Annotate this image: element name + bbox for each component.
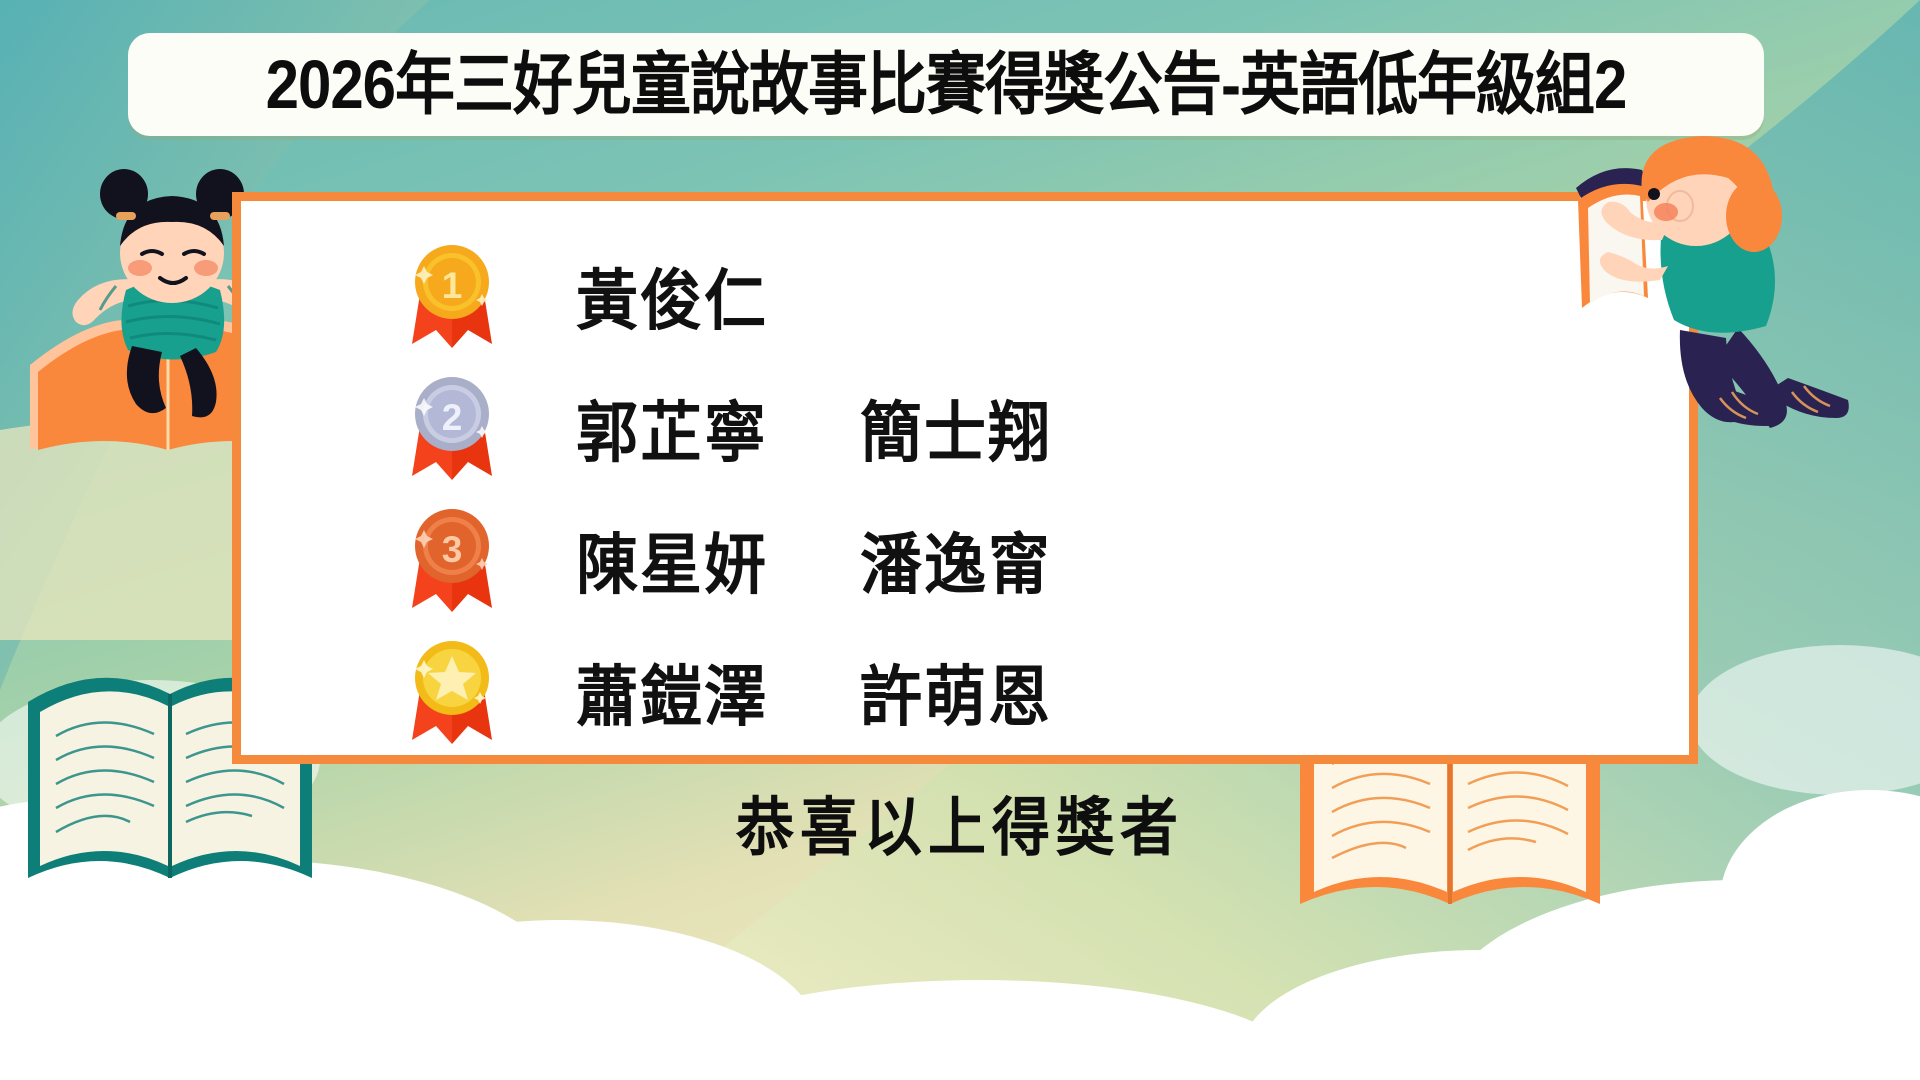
- announcement-title-card: 2026年三好兒童說故事比賽得獎公告-英語低年級組2: [128, 33, 1764, 136]
- winner-name: 潘逸甯: [860, 511, 1052, 606]
- winner-name: 陳星妍: [576, 511, 768, 606]
- winner-names: 黃俊仁: [576, 250, 768, 340]
- winner-name: 郭芷寧: [576, 379, 768, 474]
- winner-names: 郭芷寧 簡士翔: [576, 382, 1052, 472]
- page-title: 2026年三好兒童說故事比賽得獎公告-英語低年級組2: [266, 50, 1627, 118]
- winners-panel: 1 黃俊仁 2: [232, 192, 1698, 764]
- winner-row: 2 郭芷寧 簡士翔: [406, 367, 1689, 487]
- silver-medal-ribbon-icon: 2: [406, 372, 498, 482]
- winner-name: 黃俊仁: [576, 247, 768, 342]
- winners-list: 1 黃俊仁 2: [241, 201, 1689, 755]
- medal-rank-label: 3: [442, 529, 463, 570]
- winner-name: 許萌恩: [860, 643, 1052, 738]
- winner-row: 1 黃俊仁: [406, 235, 1689, 355]
- winner-name: 蕭鎧澤: [576, 643, 768, 738]
- winner-row: 蕭鎧澤 許萌恩: [406, 631, 1689, 751]
- medal-rank-label: 1: [442, 265, 463, 306]
- winner-names: 陳星妍 潘逸甯: [576, 514, 1052, 604]
- winner-name: 簡士翔: [860, 379, 1052, 474]
- congratulations-text: 恭喜以上得獎者: [0, 776, 1920, 868]
- winner-names: 蕭鎧澤 許萌恩: [576, 646, 1052, 736]
- winner-row: 3 陳星妍 潘逸甯: [406, 499, 1689, 619]
- gold-medal-ribbon-icon: 1: [406, 240, 498, 350]
- medal-rank-label: 2: [442, 397, 463, 438]
- boy-reading-book-illustration: [1570, 130, 1900, 450]
- star-medal-ribbon-icon: [406, 636, 498, 746]
- bronze-medal-ribbon-icon: 3: [406, 504, 498, 614]
